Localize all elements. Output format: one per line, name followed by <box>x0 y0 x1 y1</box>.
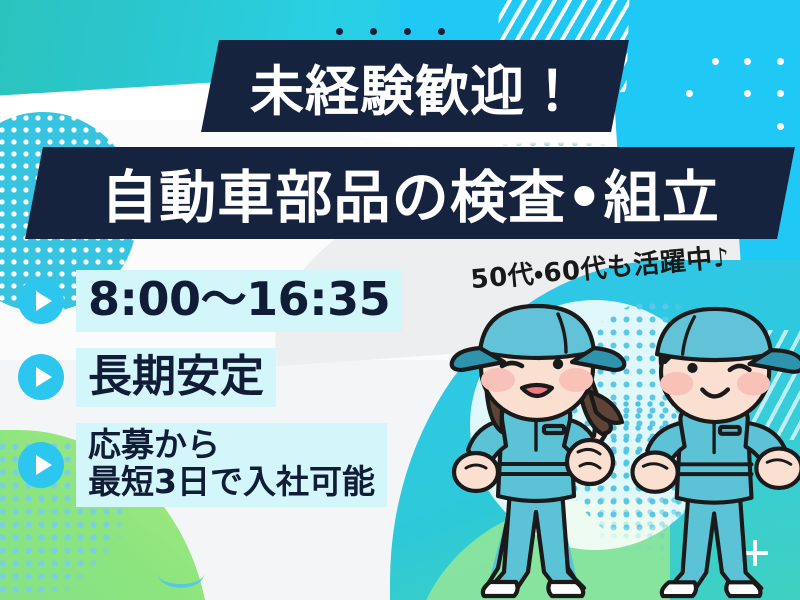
fast-hire-line-1: 応募から <box>88 425 220 464</box>
fast-hire-text: 応募から最短3日で入社可能 <box>76 423 387 507</box>
scatter-dot <box>777 58 784 65</box>
list-item: 8:00〜16:35 <box>18 270 488 332</box>
catchphrase-text: 未経験歓迎！ <box>250 47 580 126</box>
poster-canvas: 未経験歓迎！ 自動車部品の検査•組立 8:00〜16:35 長期安定 応募から最… <box>0 0 800 600</box>
scatter-dot <box>777 123 784 130</box>
scatter-dot <box>777 90 784 97</box>
play-circle-icon <box>18 278 64 324</box>
decorative-dot <box>370 28 377 35</box>
stability-text: 長期安定 <box>76 348 276 407</box>
job-title-banner: 自動車部品の検査•組立 <box>25 147 795 239</box>
handwritten-note: 50代・60代も活躍中♪ <box>469 237 731 297</box>
scatter-dot <box>712 58 719 65</box>
female-worker-illustration <box>440 300 650 600</box>
scatter-dot <box>686 90 693 97</box>
list-item: 長期安定 <box>18 348 488 407</box>
benefits-list: 8:00〜16:35 長期安定 応募から最短3日で入社可能 <box>18 270 488 523</box>
scatter-dot <box>744 90 751 97</box>
job-title-text: 自動車部品の検査•組立 <box>101 152 720 234</box>
male-worker-illustration <box>620 305 800 600</box>
catchphrase-banner: 未経験歓迎！ <box>201 40 629 132</box>
decorative-dot <box>404 28 411 35</box>
working-hours-text: 8:00〜16:35 <box>76 270 402 332</box>
list-item: 応募から最短3日で入社可能 <box>18 423 488 507</box>
decorative-smile-arc <box>158 560 204 588</box>
play-circle-icon <box>18 442 64 488</box>
decorative-dot <box>438 28 445 35</box>
play-circle-icon <box>18 354 64 400</box>
fast-hire-line-2: 最短3日で入社可能 <box>88 462 375 501</box>
scatter-dot <box>744 58 751 65</box>
decorative-dot <box>336 28 343 35</box>
